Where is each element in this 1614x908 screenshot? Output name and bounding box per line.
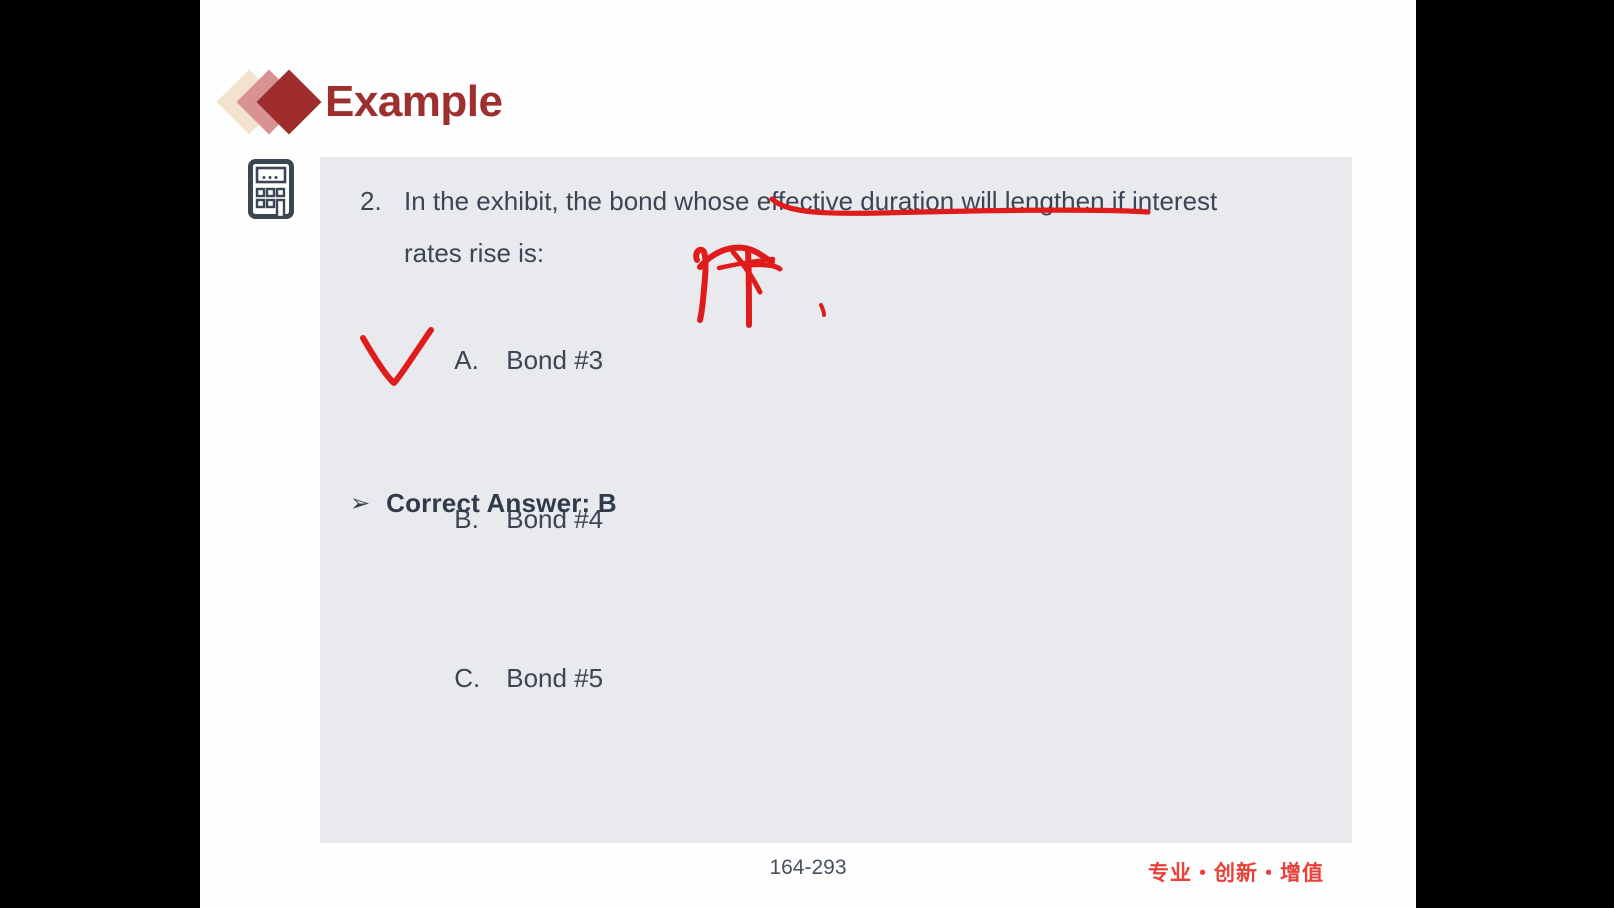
- arrow-bullet-icon: ➢: [350, 492, 370, 516]
- option-a-label: Bond #3: [506, 345, 603, 375]
- option-c-label: Bond #5: [506, 663, 603, 693]
- option-a-letter: A.: [454, 334, 506, 387]
- correct-answer-row: ➢ Correct Answer: B: [350, 488, 617, 519]
- diamonds-logo-icon: [225, 66, 323, 138]
- slide-header: Example: [225, 62, 502, 142]
- brand-slogan: 专业・创新・增值: [1148, 857, 1324, 887]
- calculator-icon: [248, 159, 294, 219]
- option-c-letter: C.: [454, 652, 506, 705]
- question-panel: 2. In the exhibit, the bond whose effect…: [320, 157, 1352, 843]
- question-block: 2. In the exhibit, the bond whose effect…: [360, 175, 1280, 279]
- option-c[interactable]: C.Bond #5: [382, 599, 603, 758]
- presentation-viewer: Example 2. In the exhibit, the bond whos…: [0, 0, 1614, 908]
- letterbox-bar-right: [1416, 0, 1614, 908]
- question-text: In the exhibit, the bond whose effective…: [404, 175, 1280, 279]
- page-title: Example: [325, 80, 502, 124]
- answer-options: A.Bond #3 B.Bond #4 C.Bond #5: [382, 281, 603, 758]
- question-number: 2.: [360, 175, 382, 227]
- letterbox-bar-left: [0, 0, 200, 908]
- option-b[interactable]: B.Bond #4: [382, 440, 603, 599]
- option-a[interactable]: A.Bond #3: [382, 281, 603, 440]
- correct-answer-text: Correct Answer: B: [386, 488, 617, 519]
- slide-canvas: Example 2. In the exhibit, the bond whos…: [200, 0, 1416, 908]
